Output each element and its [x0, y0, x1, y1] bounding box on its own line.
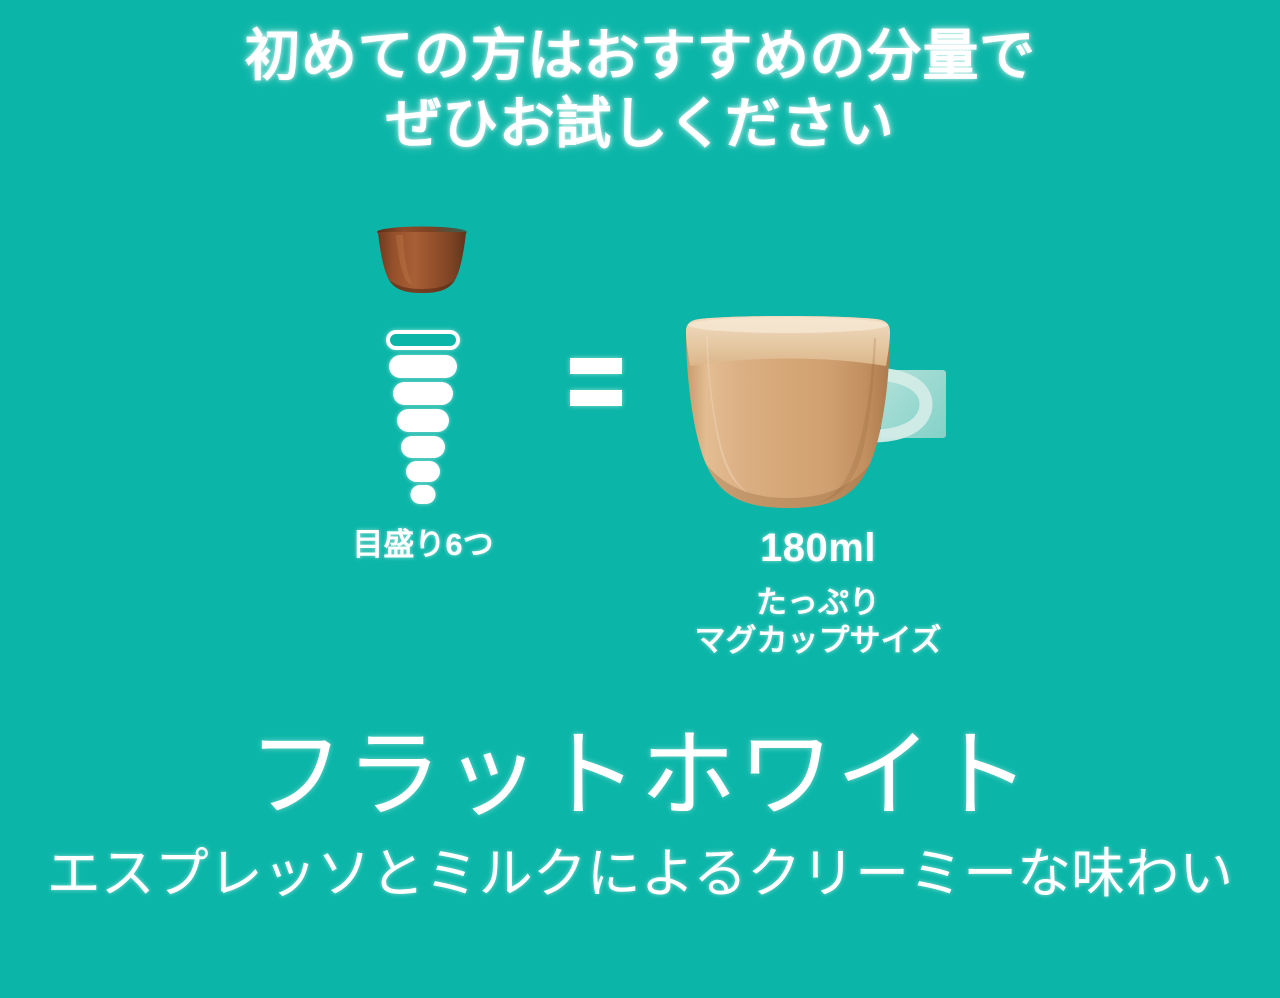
scale-mark-1: [389, 355, 457, 378]
cup-size-line-2: マグカップサイズ: [668, 622, 968, 660]
scale-mark-5: [406, 461, 440, 482]
latte-cup-icon: [676, 312, 956, 517]
measuring-scale-icon: [386, 330, 460, 492]
cup-size-line-1: たっぷり: [668, 584, 968, 622]
scale-mark-4: [401, 436, 445, 458]
product-name: フラットホワイト: [0, 726, 1280, 827]
equals-bar-top: [570, 358, 622, 374]
scale-caption: 目盛り6つ: [293, 527, 553, 563]
cup-graphic: [676, 312, 956, 517]
coffee-capsule-icon: [376, 226, 468, 294]
volume-label: 180ml: [668, 525, 968, 572]
equals-bar-bottom: [570, 390, 622, 406]
cup-caption: 180ml たっぷり マグカップサイズ: [668, 525, 968, 660]
promo-poster: 初めての方はおすすめの分量で ぜひお試しください: [0, 0, 1280, 998]
product-tagline: エスプレッソとミルクによるクリーミーな味わい: [0, 845, 1280, 904]
headline-line-1: 初めての方はおすすめの分量で: [245, 24, 1036, 87]
scale-mark-outline: [386, 330, 460, 350]
scale-mark-3: [397, 409, 449, 432]
capsule-graphic: [376, 226, 468, 294]
headline-line-2: ぜひお試しください: [0, 90, 1280, 158]
headline: 初めての方はおすすめの分量で ぜひお試しください: [0, 22, 1280, 159]
scale-mark-2: [393, 382, 453, 405]
equals-sign-icon: [570, 358, 622, 412]
scale-mark-6: [411, 485, 436, 504]
